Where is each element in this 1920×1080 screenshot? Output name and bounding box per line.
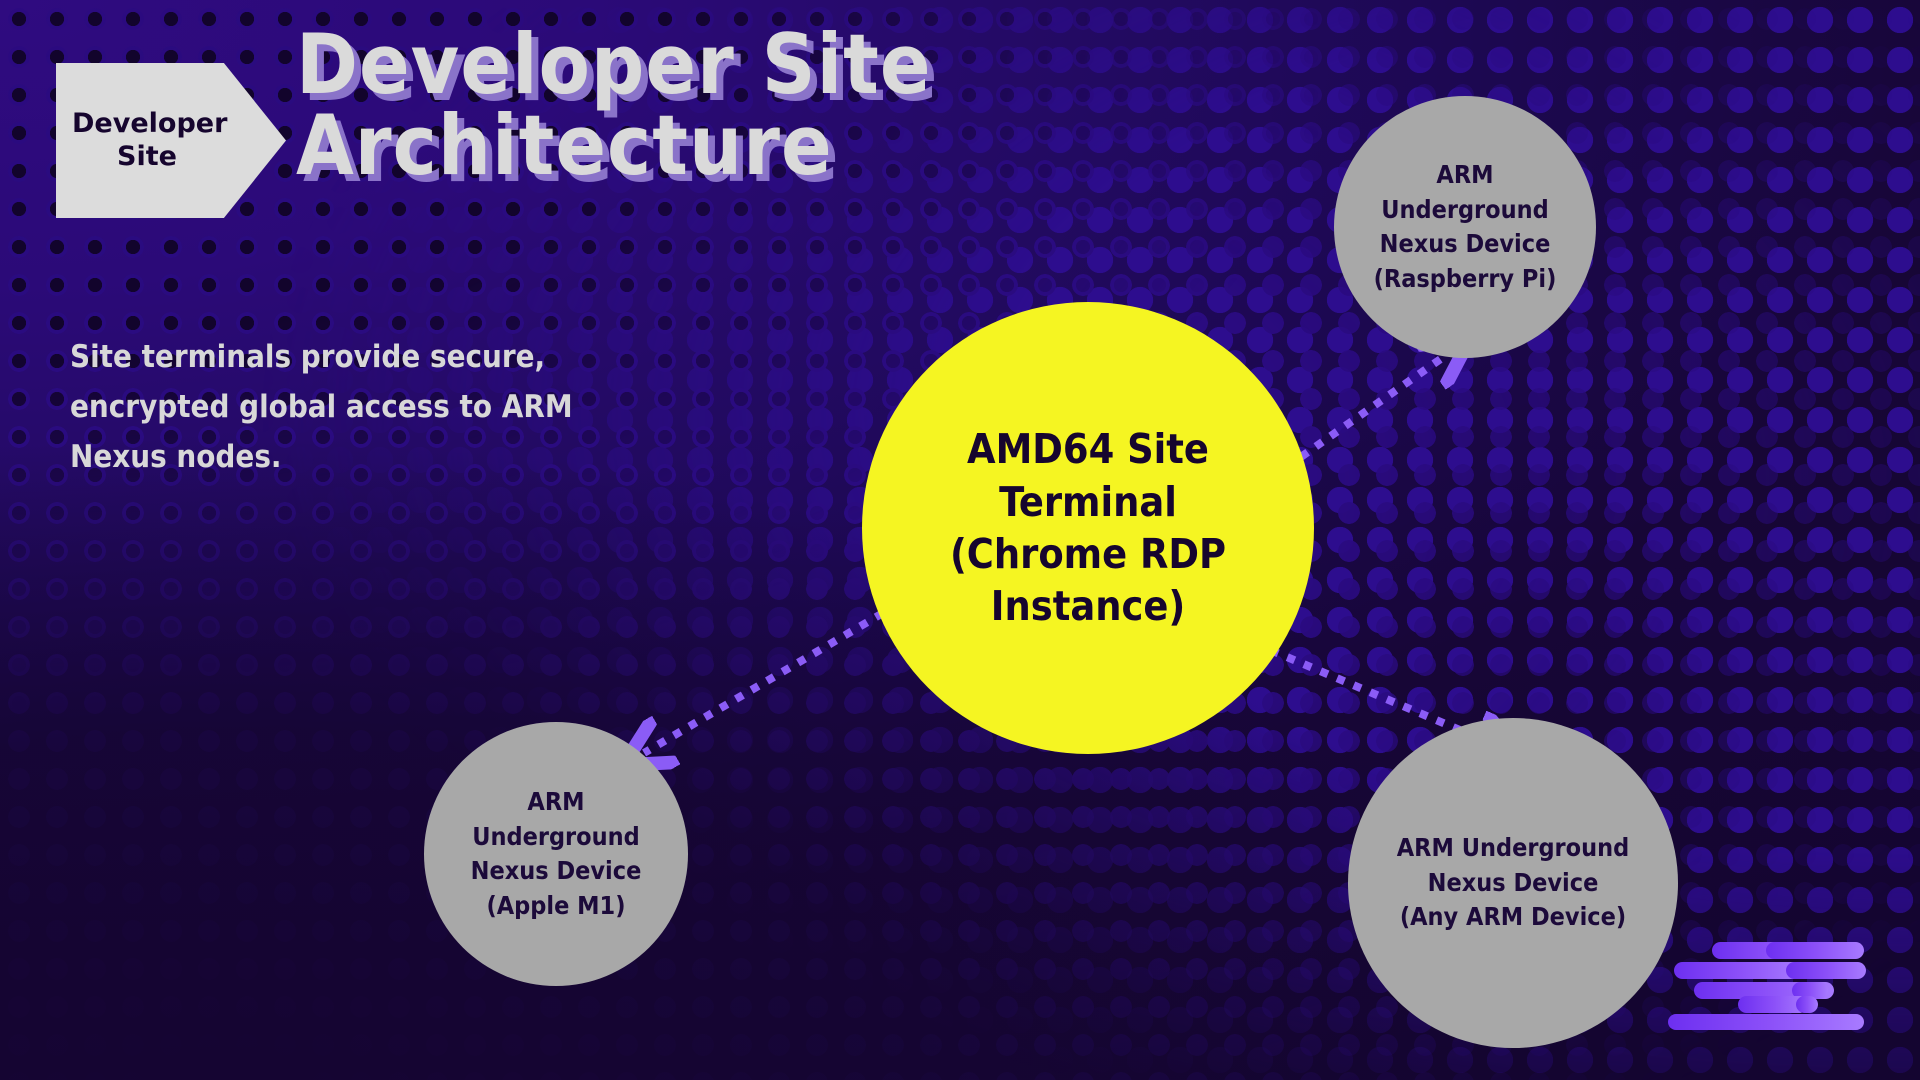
node-arm-nexus-raspberry-pi[interactable]: ARM Underground Nexus Device (Raspberry … <box>1334 96 1596 358</box>
node-amd64-site-terminal[interactable]: AMD64 Site Terminal (Chrome RDP Instance… <box>862 302 1314 754</box>
deco-bar-4 <box>1786 962 1866 979</box>
lede-line-3: Nexus nodes. <box>70 432 650 482</box>
node-rpi-line-3: Nexus Device <box>1374 227 1557 262</box>
node-rpi-line-4: (Raspberry Pi) <box>1374 262 1557 297</box>
title-line-2: Architecture <box>296 105 1176 186</box>
data-stream-graphic-icon <box>1668 938 1868 1030</box>
node-m1-line-4: (Apple M1) <box>471 889 642 924</box>
node-any-line-3: (Any ARM Device) <box>1397 900 1629 935</box>
deco-bar-8 <box>1796 996 1818 1013</box>
node-rpi-line-2: Underground <box>1374 193 1557 228</box>
deco-bar-3 <box>1674 962 1802 979</box>
node-center-line-4: Instance) <box>950 580 1226 632</box>
node-center-label: AMD64 Site Terminal (Chrome RDP Instance… <box>950 423 1226 633</box>
node-m1-line-2: Underground <box>471 820 642 855</box>
badge-line-2: Site <box>117 141 177 172</box>
lede-line-1: Site terminals provide secure, <box>70 332 650 382</box>
node-arm-nexus-apple-m1[interactable]: ARM Underground Nexus Device (Apple M1) <box>424 722 688 986</box>
node-m1-line-1: ARM <box>471 785 642 820</box>
title-line-1: Developer Site <box>296 24 1176 105</box>
node-any-line-1: ARM Underground <box>1397 831 1629 866</box>
node-any-label: ARM Underground Nexus Device (Any ARM De… <box>1397 831 1629 935</box>
deco-bar-2 <box>1766 942 1864 959</box>
node-m1-label: ARM Underground Nexus Device (Apple M1) <box>471 785 642 923</box>
node-arm-nexus-any-arm[interactable]: ARM Underground Nexus Device (Any ARM De… <box>1348 718 1678 1048</box>
node-rpi-line-1: ARM <box>1374 158 1557 193</box>
deco-bar-9 <box>1668 1014 1864 1030</box>
badge-text: Developer Site <box>72 108 222 173</box>
node-rpi-label: ARM Underground Nexus Device (Raspberry … <box>1374 158 1557 296</box>
lede-paragraph: Site terminals provide secure, encrypted… <box>70 332 650 483</box>
slide-canvas: Developer Site Developer Site Architectu… <box>0 0 1920 1080</box>
node-center-line-1: AMD64 Site <box>950 423 1226 475</box>
node-center-line-2: Terminal <box>950 476 1226 528</box>
node-m1-line-3: Nexus Device <box>471 854 642 889</box>
node-center-line-3: (Chrome RDP <box>950 528 1226 580</box>
page-title: Developer Site Architecture <box>296 24 1176 187</box>
lede-line-2: encrypted global access to ARM <box>70 382 650 432</box>
node-any-line-2: Nexus Device <box>1397 866 1629 901</box>
badge-line-1: Developer <box>72 108 227 139</box>
